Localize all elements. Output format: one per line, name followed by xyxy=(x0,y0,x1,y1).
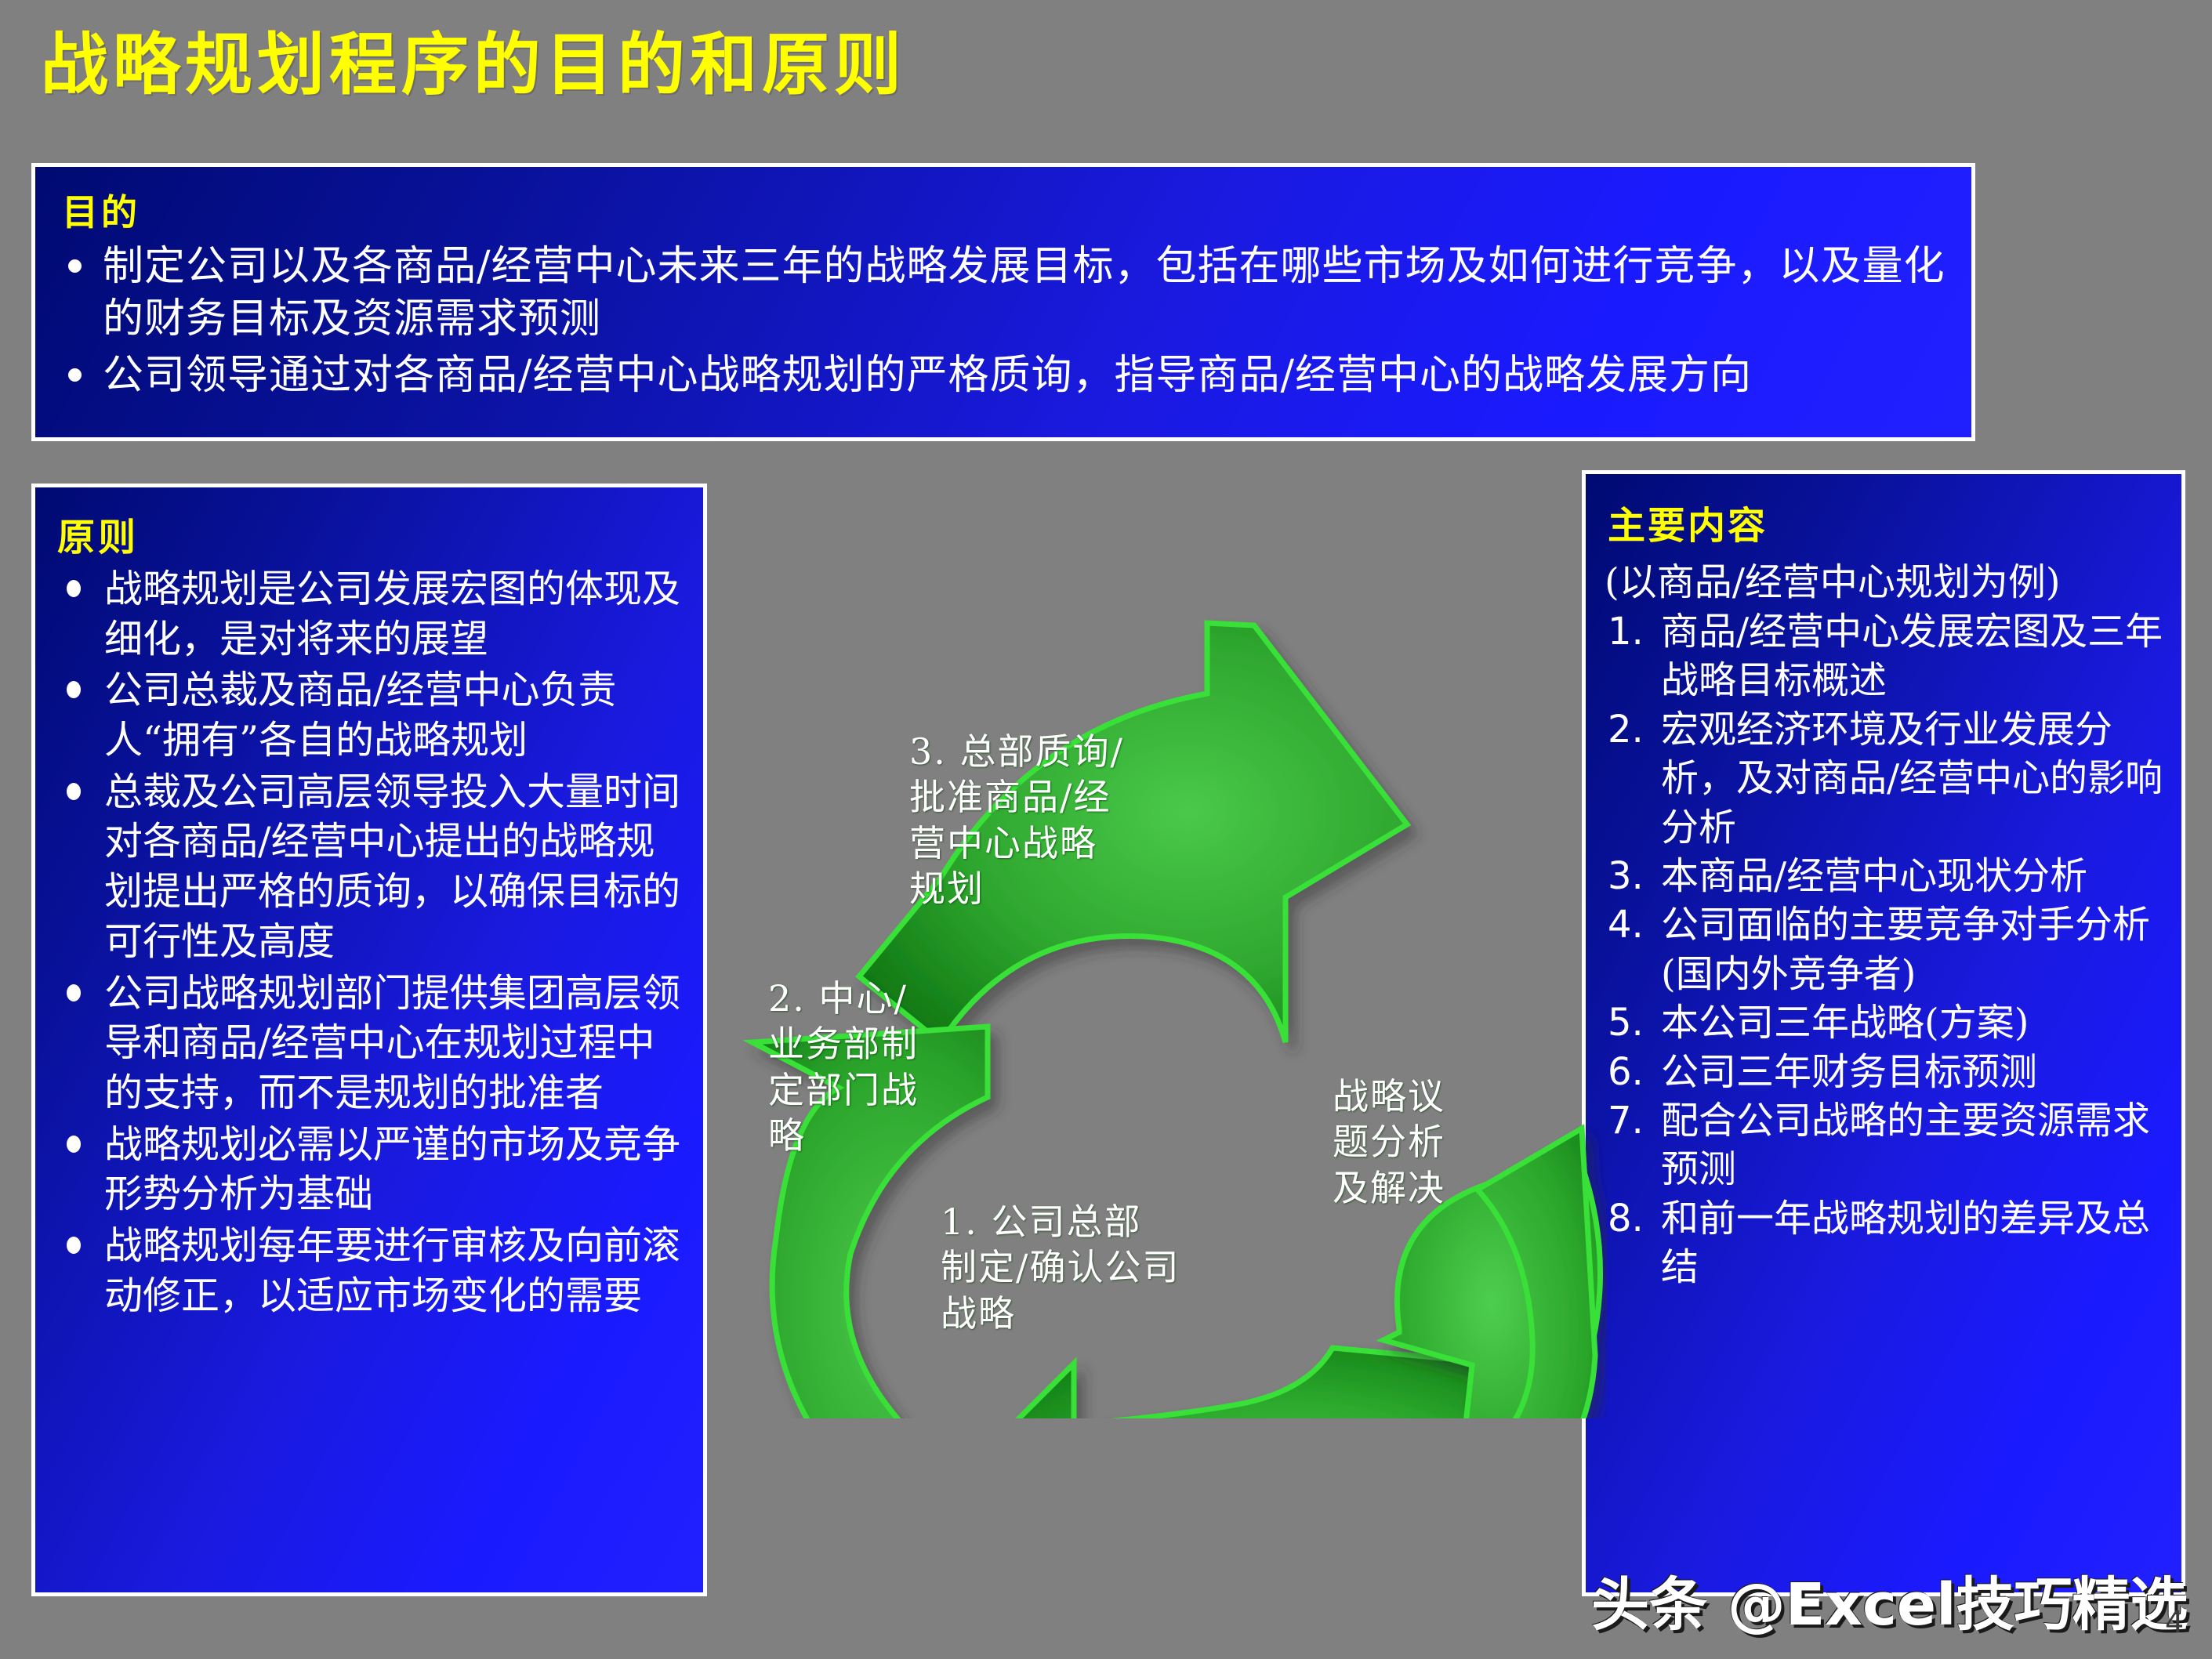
list-item: 战略规划必需以严谨的市场及竞争形势分析为基础 xyxy=(56,1120,691,1219)
list-item: 7.配合公司战略的主要资源需求预测 xyxy=(1605,1096,2175,1194)
item-number: 2. xyxy=(1608,705,1644,754)
contents-heading: 主要内容 xyxy=(1608,494,2181,549)
list-item: 公司战略规划部门提供集团高层领导和商品/经营中心在规划过程中的支持，而不是规划的… xyxy=(56,969,691,1118)
principle-text: 战略规划必需以严谨的市场及竞争形势分析为基础 xyxy=(104,1122,680,1217)
list-item: 战略规划每年要进行审核及向前滚动修正，以适应市场变化的需要 xyxy=(56,1221,691,1320)
list-item: 战略规划是公司发展宏图的体现及细化，是对将来的展望 xyxy=(56,564,691,664)
list-item: 1.商品/经营中心发展宏图及三年战略目标概述 xyxy=(1605,607,2175,705)
cycle-arrow-step4-label: 战略议 题分析 及解决 xyxy=(1333,1074,1445,1211)
bullet-dot-icon xyxy=(68,368,82,382)
item-text: 和前一年战略规划的差异及总结 xyxy=(1661,1197,2150,1289)
bullet-dot-icon xyxy=(67,1237,81,1254)
contents-panel: 主要内容 (以商品/经营中心规划为例) 1.商品/经营中心发展宏图及三年战略目标… xyxy=(1582,470,2185,1596)
bullet-dot-icon xyxy=(67,783,81,800)
bullet-dot-icon xyxy=(67,580,81,597)
item-number: 1. xyxy=(1608,607,1644,656)
principle-text: 公司总裁及商品/经营中心负责人“拥有”各自的战略规划 xyxy=(104,668,617,762)
list-item: 3.本商品/经营中心现状分析 xyxy=(1605,852,2175,900)
principles-panel: 原则 战略规划是公司发展宏图的体现及细化，是对将来的展望 公司总裁及商品/经营中… xyxy=(31,484,707,1596)
contents-subheading: (以商品/经营中心规划为例) xyxy=(1605,551,2181,606)
list-item: 总裁及公司高层领导投入大量时间对各商品/经营中心提出的战略规划提出严格的质询，以… xyxy=(56,767,691,967)
contents-numbered-list: 1.商品/经营中心发展宏图及三年战略目标概述 2.宏观经济环境及行业发展分析，及… xyxy=(1586,607,2181,1291)
purpose-bullet-text: 公司领导通过对各商品/经营中心战略规划的严格质询，指导商品/经营中心的战略发展方… xyxy=(103,352,1752,399)
purpose-heading: 目的 xyxy=(62,184,1971,236)
item-number: 5. xyxy=(1608,998,1644,1047)
watermark: 头条 @Excel技巧精选 xyxy=(1591,1558,2188,1642)
list-item: 6.公司三年财务目标预测 xyxy=(1605,1048,2175,1096)
cycle-arrow-step1-label: 1. 公司总部 制定/确认公司 战略 xyxy=(941,1199,1180,1336)
page-title: 战略规划程序的目的和原则 xyxy=(41,9,906,107)
list-item: 4.公司面临的主要竞争对手分析(国内外竞争者) xyxy=(1605,900,2175,998)
item-number: 3. xyxy=(1608,852,1644,900)
list-item: 制定公司以及各商品/经营中心未来三年的战略发展目标，包括在哪些市场及如何进行竞争… xyxy=(62,241,1951,345)
cycle-arrow-step2-label: 2. 中心/ 业务部制 定部门战 略 xyxy=(768,976,919,1159)
principle-text: 总裁及公司高层领导投入大量时间对各商品/经营中心提出的战略规划提出严格的质询，以… xyxy=(104,770,680,964)
bullet-dot-icon xyxy=(67,681,81,698)
item-number: 7. xyxy=(1608,1096,1644,1145)
item-number: 8. xyxy=(1608,1194,1644,1243)
principle-text: 公司战略规划部门提供集团高层领导和商品/经营中心在规划过程中的支持，而不是规划的… xyxy=(104,971,680,1115)
list-item: 公司总裁及商品/经营中心负责人“拥有”各自的战略规划 xyxy=(56,665,691,765)
purpose-bullet-list: 制定公司以及各商品/经营中心未来三年的战略发展目标，包括在哪些市场及如何进行竞争… xyxy=(35,241,1971,402)
purpose-bullet-text: 制定公司以及各商品/经营中心未来三年的战略发展目标，包括在哪些市场及如何进行竞争… xyxy=(103,243,1945,342)
list-item: 5.本公司三年战略(方案) xyxy=(1605,998,2175,1047)
item-text: 公司三年财务目标预测 xyxy=(1661,1050,2037,1094)
item-text: 本公司三年战略(方案) xyxy=(1661,1001,2029,1045)
list-item: 2.宏观经济环境及行业发展分析，及对商品/经营中心的影响分析 xyxy=(1605,705,2175,852)
item-text: 配合公司战略的主要资源需求预测 xyxy=(1661,1099,2150,1191)
item-number: 4. xyxy=(1608,900,1644,949)
item-number: 6. xyxy=(1608,1048,1644,1096)
cycle-arrow-step3-label: 3. 总部质询/ 批准商品/经 营中心战略 规划 xyxy=(909,729,1124,912)
item-text: 本商品/经营中心现状分析 xyxy=(1661,854,2087,898)
page-number: 4 xyxy=(2165,1605,2184,1639)
item-text: 公司面临的主要竞争对手分析(国内外竞争者) xyxy=(1661,903,2150,995)
bullet-dot-icon xyxy=(68,259,82,273)
principles-heading: 原则 xyxy=(57,506,703,561)
principle-text: 战略规划是公司发展宏图的体现及细化，是对将来的展望 xyxy=(104,567,680,661)
bullet-dot-icon xyxy=(67,984,81,1002)
item-text: 商品/经营中心发展宏图及三年战略目标概述 xyxy=(1661,610,2163,702)
list-item: 8.和前一年战略规划的差异及总结 xyxy=(1605,1194,2175,1292)
purpose-panel: 目的 制定公司以及各商品/经营中心未来三年的战略发展目标，包括在哪些市场及如何进… xyxy=(31,163,1975,441)
list-item: 公司领导通过对各商品/经营中心战略规划的严格质询，指导商品/经营中心的战略发展方… xyxy=(62,350,1951,402)
item-text: 宏观经济环境及行业发展分析，及对商品/经营中心的影响分析 xyxy=(1661,708,2163,849)
principle-text: 战略规划每年要进行审核及向前滚动修正，以适应市场变化的需要 xyxy=(104,1223,680,1318)
principles-bullet-list: 战略规划是公司发展宏图的体现及细化，是对将来的展望 公司总裁及商品/经营中心负责… xyxy=(35,564,703,1320)
bullet-dot-icon xyxy=(67,1136,81,1153)
